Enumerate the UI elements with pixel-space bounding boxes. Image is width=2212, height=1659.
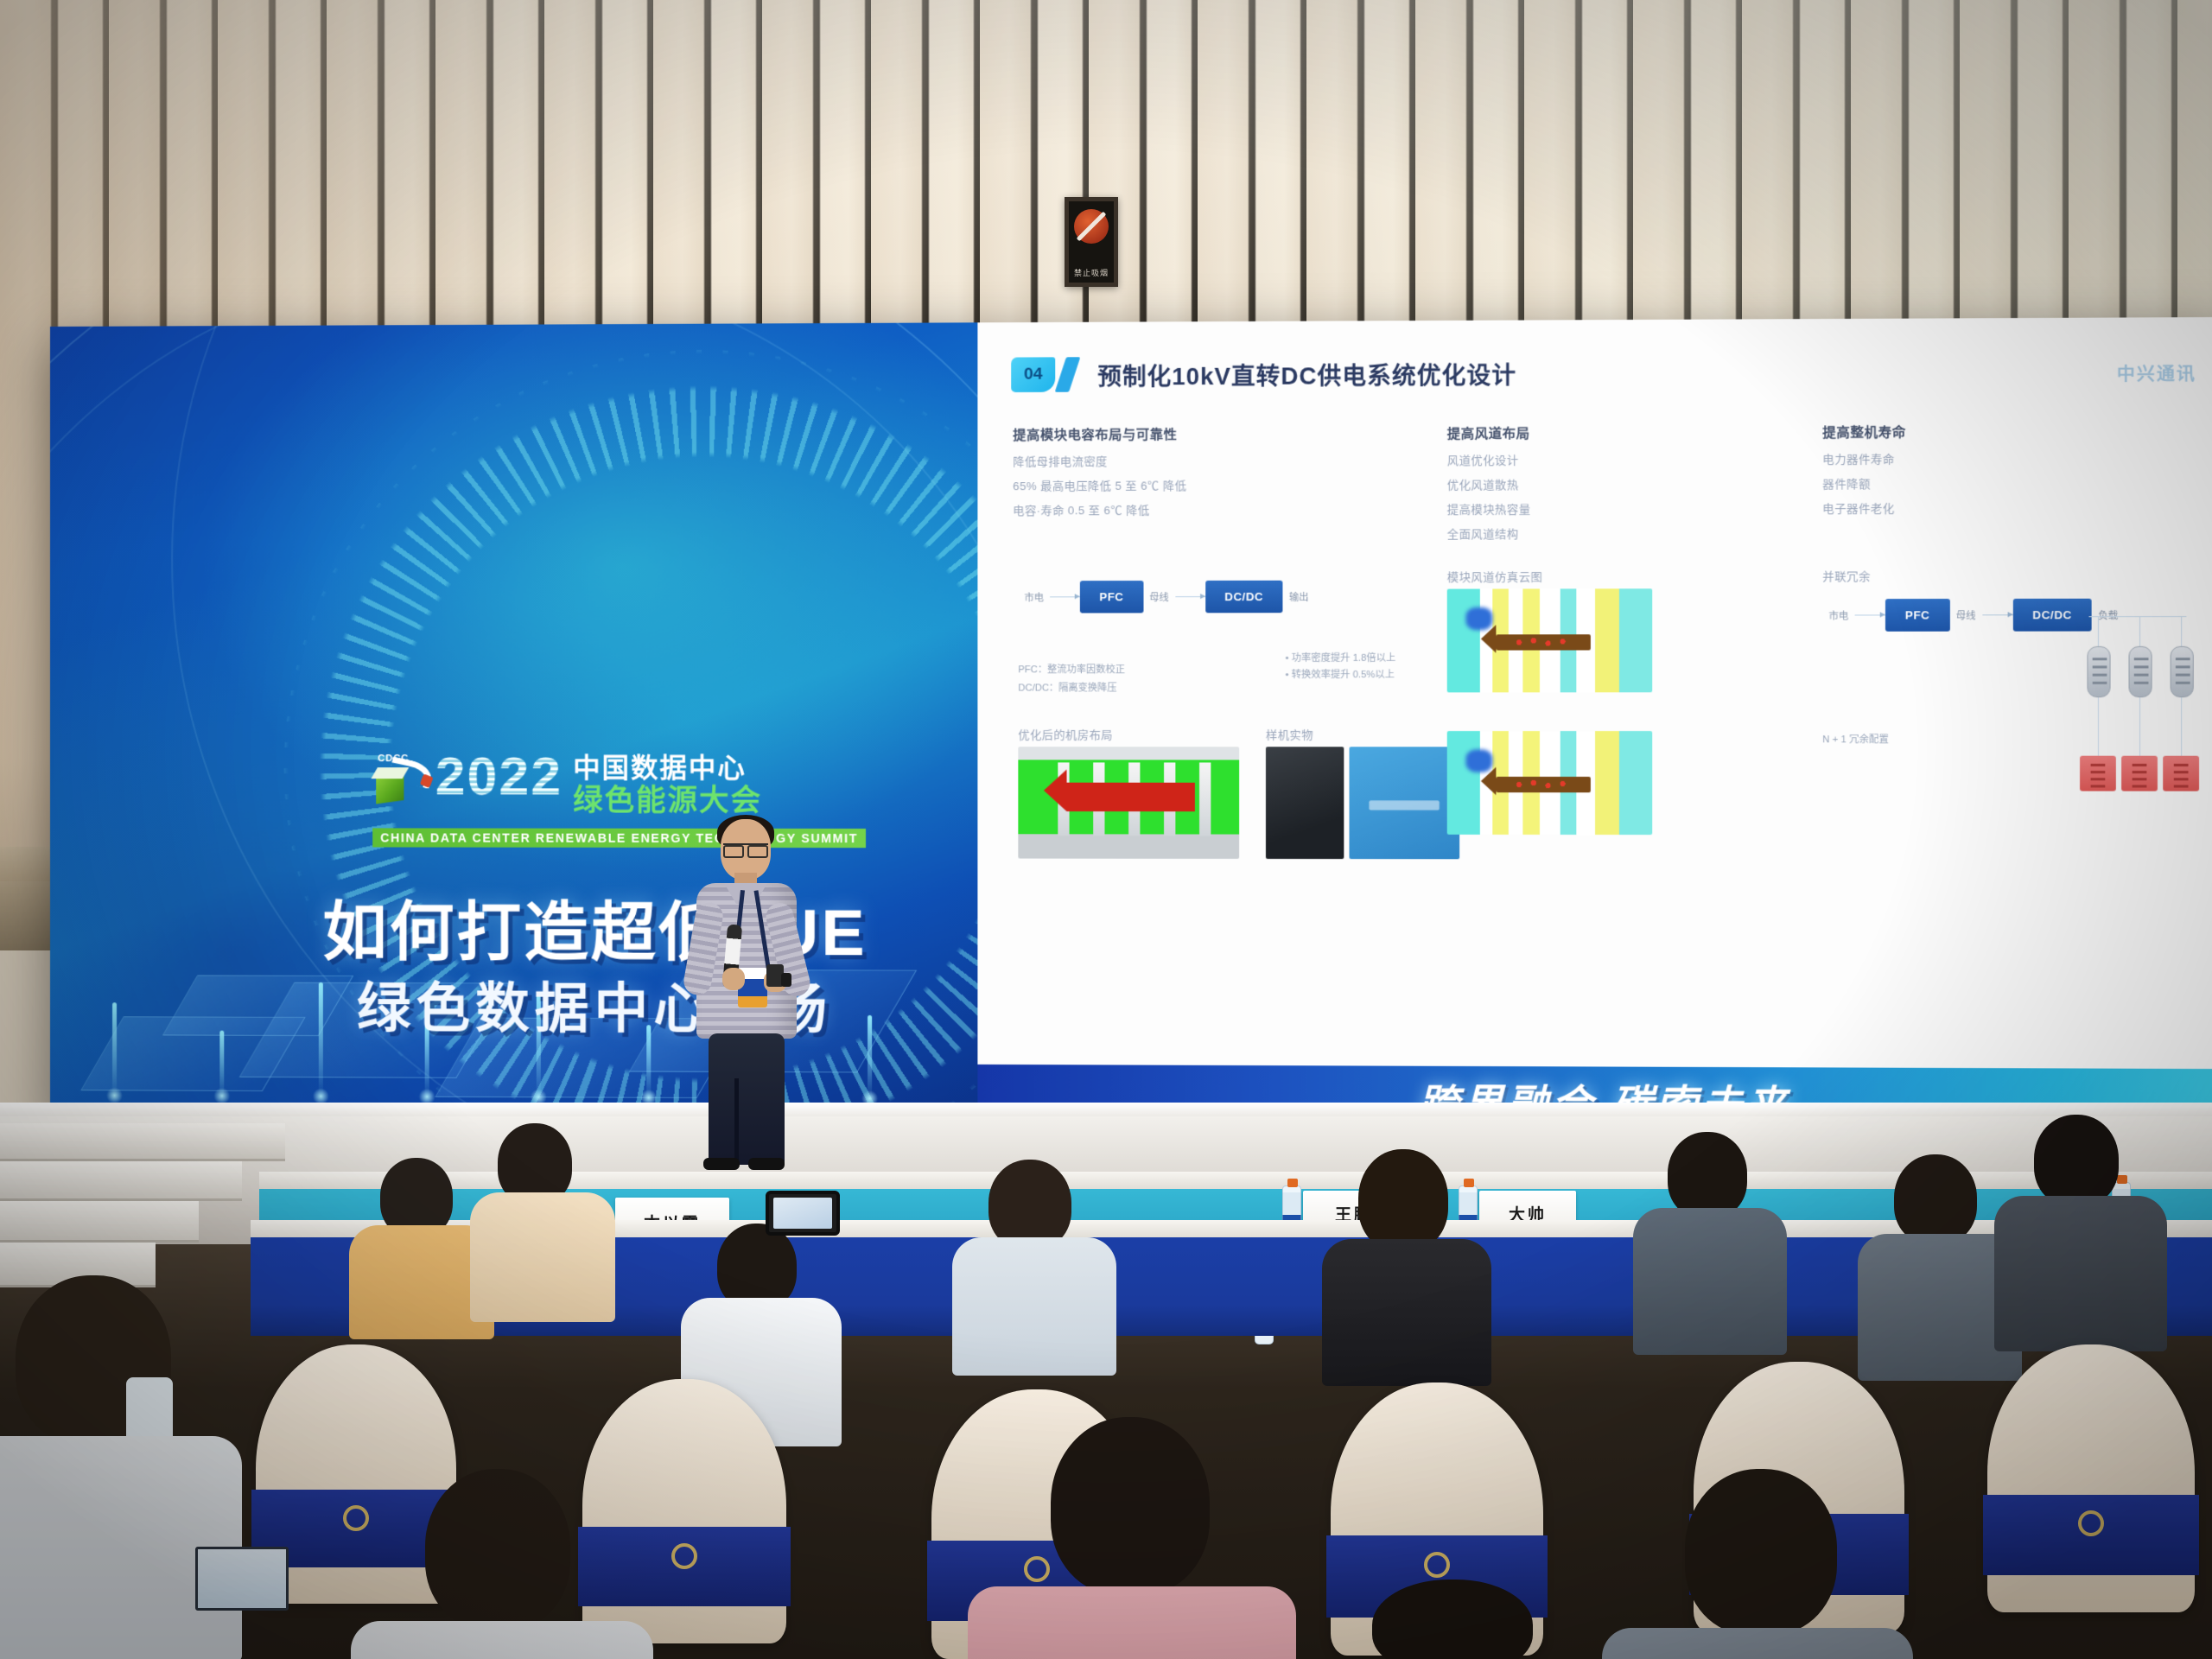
block-diagram-output-label: 输出 [1289,589,1309,603]
column-heading: 提高整机寿命 [1822,423,1906,442]
person-torso [1994,1196,2167,1351]
speaker-trousers [709,1033,785,1165]
person-head [717,1224,797,1310]
laptop[interactable] [195,1547,289,1611]
column-line: 电力器件寿命 [1822,450,1906,467]
person-head [988,1160,1071,1249]
person-torso [1322,1239,1491,1386]
led-left-panel: CDCC 2022 中国数据中心 绿色能源大会 CHINA DATA CENTE… [50,322,977,1134]
column-line: 优化风道散热 [1447,475,1531,493]
headline-line-2: 绿色数据中心专场 [219,980,971,1040]
battery-cabinet [2080,756,2116,791]
block-pfc: PFC [1080,581,1143,613]
session-headline: 如何打造超低PUE 绿色数据中心专场 [219,897,971,1040]
column-line: 降低母排电流密度 [1013,452,1186,469]
thumb-caption-layout: 优化后的机房布局 [1018,726,1113,742]
block-diagram-mid-label: 母线 [1149,590,1169,604]
speaker-leg-split [734,1078,739,1165]
no-smoking-label: 禁止吸烟 [1074,267,1109,278]
smartphone-recording[interactable] [766,1191,840,1236]
column-line: 风道优化设计 [1447,451,1531,468]
thumb-caption-photos: 样机实物 [1266,726,1313,742]
cfd-airflow-map-top [1447,588,1652,692]
conference-name-line1: 中国数据中心 [573,753,762,784]
no-smoking-icon [1074,209,1109,244]
chair-ring-buckle-icon [1424,1552,1450,1578]
conference-logo: CDCC 2022 中国数据中心 绿色能源大会 [372,752,762,817]
glasses-icon [723,843,768,854]
block-note: PFC：整流功率因数校正 [1018,661,1125,679]
capacitor-module [2128,646,2152,697]
capacitor-module [2087,646,2110,697]
slide-column-2: 提高风道布局 风道优化设计 优化风道散热 提高模块热容量 全面风道结构 [1447,423,1531,549]
column-line: 器件降额 [1822,474,1906,492]
headline-line-1: 如何打造超低PUE [219,897,971,968]
conference-name-line2: 绿色能源大会 [573,784,762,817]
cfd-airflow-map-bottom [1447,731,1652,835]
block-note: DC/DC：隔离变换降压 [1018,679,1125,697]
person-head [1051,1417,1210,1595]
stage-led-screen: CDCC 2022 中国数据中心 绿色能源大会 CHINA DATA CENTE… [50,317,2212,1140]
hot-aisle-arrow-icon [1067,783,1195,812]
slide-column-1: 提高模块电容布局与可靠性 降低母排电流密度 65% 最高电压降低 5 至 6℃ … [1013,425,1186,526]
battery-cabinet [2121,756,2158,791]
block-pfc: PFC [1885,599,1949,632]
person-torso [968,1586,1296,1659]
battery-cabinet [2163,756,2199,791]
column-line: 提高模块热容量 [1447,500,1531,518]
column-line: 电容·寿命 0.5 至 6℃ 降低 [1013,501,1186,518]
face-mask [126,1377,173,1443]
power-chain-output-label: 负载 [2098,607,2118,621]
speaker-on-stage [684,819,814,1165]
rack-layout-3d [1018,747,1239,859]
person-torso [952,1237,1116,1376]
person-head [1372,1580,1533,1659]
person-torso [1602,1628,1913,1659]
column-line: 全面风道结构 [1447,524,1531,541]
cdcc-logo-icon: CDCC [372,752,426,805]
block-diagram-right-notes: • 功率密度提升 1.8倍以上 • 转换效率提升 0.5%以上 [1286,651,1396,684]
speaker-left-hand [722,968,745,990]
airflow-arrow-icon [1497,634,1591,650]
person-torso [1633,1208,1787,1355]
conference-photo-scene: 禁止吸烟 [0,0,2212,1659]
block-diagram-input-label: 市电 [1024,590,1043,604]
slide-column-3: 提高整机寿命 电力器件寿命 器件降额 电子器件老化 [1822,423,1906,524]
block-right-note: • 转换效率提升 0.5%以上 [1286,667,1396,684]
slide-header-slash-icon [1055,357,1081,392]
person-head [425,1469,570,1630]
column-heading: 提高风道布局 [1447,423,1531,442]
power-chain-mid-label: 母线 [1956,608,1976,622]
chair-ring-buckle-icon [2078,1510,2104,1536]
block-right-note: • 功率密度提升 1.8倍以上 [1286,651,1396,668]
person-head [1685,1469,1837,1635]
slide-brand-logo: 中兴通讯 [2117,359,2196,385]
airflow-arrow-icon [1497,777,1591,792]
presentation-slide: 04 预制化10kV直转DC供电系统优化设计 中兴通讯 提高模块电容布局与可靠性… [977,317,2212,1069]
arrow-icon [1175,596,1205,597]
power-chain-input-label: 市电 [1828,608,1848,622]
chair-ring-buckle-icon [671,1543,697,1569]
column-line: 电子器件老化 [1822,499,1906,517]
person-head [1668,1132,1747,1218]
arrow-icon [1050,596,1080,597]
audience-chair[interactable] [1987,1344,2195,1612]
conference-name-cn: 中国数据中心 绿色能源大会 [573,753,762,817]
block-diagram-notes: PFC：整流功率因数校正 DC/DC：隔离变换降压 [1018,661,1125,697]
power-chain-caption: 并联冗余 [1822,567,1871,583]
slide-title: 预制化10kV直转DC供电系统优化设计 [1097,356,1516,391]
column-heading: 提高模块电容布局与可靠性 [1013,425,1186,444]
person-head [1358,1149,1448,1251]
speaker-shoe [703,1158,740,1170]
power-chain-footer-note: N + 1 冗余配置 [1822,731,1889,749]
block-dcdc: DC/DC [1205,581,1283,613]
chair-ring-buckle-icon [343,1505,369,1531]
block-diagram-left: 市电 PFC 母线 DC/DC 输出 [1018,581,1314,613]
wristwatch [781,973,791,987]
phone-screen [773,1198,832,1229]
power-chain-diagram: 市电 PFC 母线 DC/DC 负载 [1822,589,2201,855]
photo-thumb-dark [1266,747,1344,859]
slide-section-number: 04 [1011,357,1055,392]
conference-year: 2022 [435,752,563,803]
photo-thumb-blue [1350,747,1460,859]
person-head [1894,1154,1977,1244]
arrow-icon [1982,614,2012,615]
block-dcdc: DC/DC [2012,599,2092,632]
power-chain-blocks: 市电 PFC 母线 DC/DC 负载 [1822,599,2124,632]
stage-stairs [0,1123,285,1305]
chair-ring-buckle-icon [1024,1556,1050,1582]
person-torso [470,1192,615,1322]
slide-header: 04 预制化10kV直转DC供电系统优化设计 [1011,355,1516,392]
person-torso [351,1621,653,1659]
photo-thumb-caption-bar [1369,800,1440,810]
speaker-shoe [748,1158,785,1170]
person-head [2034,1115,2119,1206]
arrow-icon [1855,614,1885,615]
thumb-caption-cfd-top: 模块风道仿真云图 [1447,568,1543,584]
capacitor-module [2171,646,2194,697]
audience-chair[interactable] [582,1379,786,1643]
no-smoking-sign: 禁止吸烟 [1065,197,1118,287]
column-line: 65% 最高电压降低 5 至 6℃ 降低 [1013,476,1186,493]
